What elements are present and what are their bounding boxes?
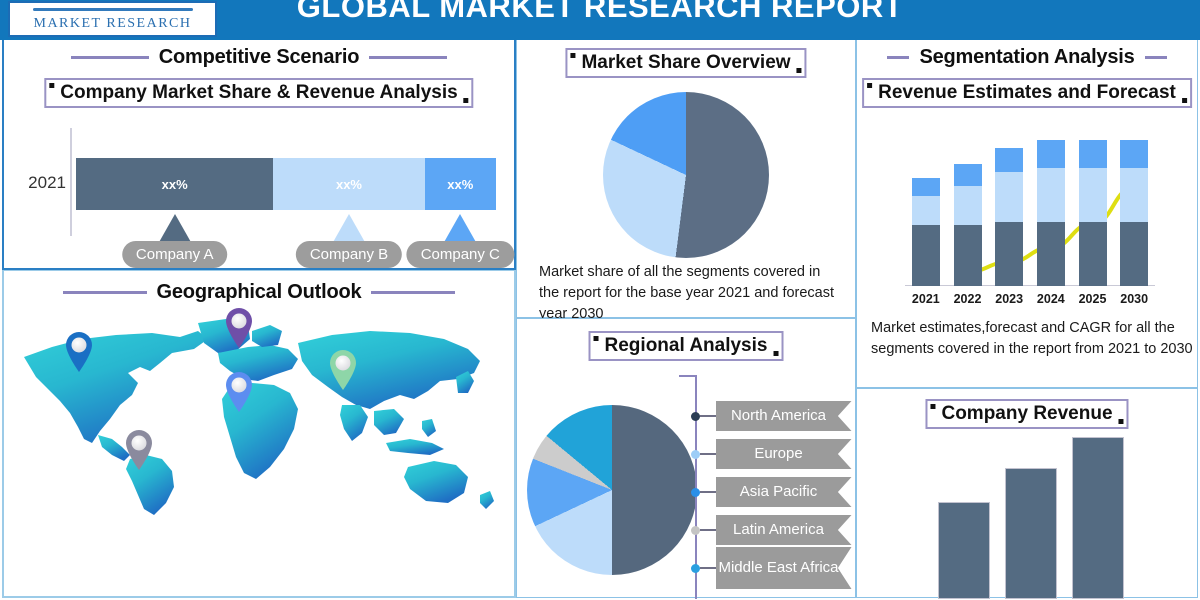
logo-text: MARKET RESEARCH <box>34 16 192 32</box>
market-share-overview-title-box: Market Share Overview <box>565 48 806 78</box>
bar-segment-company-c[interactable]: xx% <box>425 158 496 210</box>
company-revenue-bar-chart[interactable] <box>931 437 1131 599</box>
region-row-latin-america[interactable]: Latin America <box>695 515 852 545</box>
geographical-outlook-heading-label: Geographical Outlook <box>157 281 362 304</box>
region-leader-line <box>700 529 716 531</box>
seg-heading-rule-left <box>887 56 909 59</box>
region-label-europe: Europe <box>716 439 852 469</box>
region-row-europe[interactable]: Europe <box>695 439 852 469</box>
segmentation-subtitle-box: Revenue Estimates and Forecast <box>862 78 1192 108</box>
bar-segment-value-c: xx% <box>447 177 473 192</box>
region-dot-asia-pacific <box>691 488 700 497</box>
pointer-triangle-company-c <box>443 214 477 244</box>
segmentation-bar-2030[interactable] <box>1120 140 1148 286</box>
segment-Segment 1 <box>1120 222 1148 286</box>
region-leader-line <box>700 491 716 493</box>
segment-Segment 1 <box>1037 222 1065 286</box>
competitive-subtitle-box: Company Market Share & Revenue Analysis <box>44 78 473 108</box>
segmentation-bar-2025[interactable] <box>1079 140 1107 286</box>
region-dot-middle-east-africa <box>691 564 700 573</box>
bar-segment-company-a[interactable]: xx% <box>76 158 273 210</box>
segment-Segment 3 <box>1079 140 1107 168</box>
company-revenue-bar-company-a[interactable] <box>938 502 990 599</box>
market-share-stacked-bar: xx% xx% xx% <box>76 158 496 210</box>
company-label-c[interactable]: Company C <box>407 241 514 268</box>
company-label-b[interactable]: Company B <box>296 241 402 268</box>
brand-logo: MARKET RESEARCH <box>8 1 217 37</box>
logo-swoosh-icon <box>33 8 193 11</box>
bar-segment-value-b: xx% <box>336 177 362 192</box>
region-label-latin-america: Latin America <box>716 515 852 545</box>
segment-Segment 2 <box>954 186 982 225</box>
company-market-share-chart: 2021 xx% xx% xx% Company A Company B Com… <box>18 128 500 258</box>
seg-heading-rule-right <box>1145 56 1167 59</box>
region-dot-north-america <box>691 412 700 421</box>
region-row-asia-pacific[interactable]: Asia Pacific <box>695 477 852 507</box>
pointer-triangle-company-b <box>332 214 366 244</box>
segmentation-x-label-2024: 2024 <box>1037 292 1065 306</box>
company-revenue-title-box: Company Revenue <box>925 399 1128 429</box>
company-label-a[interactable]: Company A <box>122 241 228 268</box>
segment-Segment 2 <box>1120 168 1148 222</box>
segment-Segment 1 <box>1079 222 1107 286</box>
segmentation-x-label-2023: 2023 <box>995 292 1023 306</box>
infographic-root: GLOBAL MARKET RESEARCH REPORT MARKET RES… <box>0 0 1200 600</box>
region-label-asia-pacific: Asia Pacific <box>716 477 852 507</box>
company-revenue-title: Company Revenue <box>941 403 1112 424</box>
geographical-outlook-heading: Geographical Outlook <box>4 281 514 304</box>
segmentation-x-label-2021: 2021 <box>912 292 940 306</box>
segment-Segment 1 <box>912 225 940 286</box>
segmentation-note: Market estimates,forecast and CAGR for a… <box>871 318 1193 360</box>
region-leader-line <box>700 415 716 417</box>
segmentation-x-label-2025: 2025 <box>1079 292 1107 306</box>
market-share-overview-panel: Market Share Overview Market share of al… <box>516 40 856 318</box>
segmentation-bar-2023[interactable] <box>995 148 1023 285</box>
segmentation-analysis-heading: Segmentation Analysis <box>857 46 1197 69</box>
geo-heading-rule-right <box>371 291 455 294</box>
company-revenue-bar-company-c[interactable] <box>1072 437 1124 599</box>
segment-Segment 3 <box>995 148 1023 172</box>
market-share-overview-note: Market share of all the segments covered… <box>539 262 839 325</box>
heading-rule-left <box>71 56 149 59</box>
heading-rule-right <box>369 56 447 59</box>
pointer-triangle-company-a <box>158 214 192 244</box>
europe-pin[interactable] <box>224 307 254 349</box>
segment-Segment 3 <box>912 178 940 196</box>
middle-east-africa-pin[interactable] <box>224 371 254 413</box>
segmentation-x-label-2030: 2030 <box>1120 292 1148 306</box>
segment-Segment 2 <box>1037 168 1065 222</box>
segmentation-analysis-heading-label: Segmentation Analysis <box>919 46 1134 69</box>
geographical-outlook-panel: Geographical Outlook <box>2 270 516 598</box>
bar-segment-company-b[interactable]: xx% <box>273 158 424 210</box>
segment-Segment 1 <box>954 225 982 286</box>
region-leader-line <box>700 567 716 569</box>
segmentation-x-label-2022: 2022 <box>954 292 982 306</box>
revenue-estimates-bar-chart[interactable]: 202120222023202420252030 <box>905 118 1155 308</box>
regional-analysis-pie-chart[interactable] <box>527 405 697 575</box>
world-map <box>12 309 506 517</box>
seg-baseline <box>905 285 1155 287</box>
geo-heading-rule-left <box>63 291 147 294</box>
region-label-middle-east-africa: Middle East Africa <box>716 547 852 589</box>
north-america-pin[interactable] <box>64 331 94 373</box>
region-row-middle-east-africa[interactable]: Middle East Africa <box>695 553 852 583</box>
company-revenue-panel: Company Revenue <box>856 388 1198 598</box>
company-revenue-bar-company-b[interactable] <box>1005 468 1057 599</box>
regional-analysis-title: Regional Analysis <box>605 335 768 356</box>
segment-Segment 3 <box>1037 140 1065 168</box>
segment-Segment 1 <box>995 222 1023 286</box>
segment-Segment 2 <box>995 172 1023 222</box>
market-share-overview-title: Market Share Overview <box>581 52 790 73</box>
cagr-trend-line <box>905 118 1155 308</box>
segmentation-subtitle-label: Revenue Estimates and Forecast <box>878 82 1176 103</box>
competitive-subtitle-label: Company Market Share & Revenue Analysis <box>60 82 457 103</box>
competitive-scenario-heading-label: Competitive Scenario <box>159 46 360 69</box>
segmentation-bar-2021[interactable] <box>912 178 940 286</box>
competitive-scenario-panel: Competitive Scenario Company Market Shar… <box>2 40 516 270</box>
region-dot-latin-america <box>691 526 700 535</box>
chart-year-label: 2021 <box>18 173 66 193</box>
region-leader-line <box>700 453 716 455</box>
segment-Segment 2 <box>912 196 940 224</box>
chart-axis <box>70 128 72 236</box>
market-share-overview-pie-chart[interactable] <box>603 92 769 258</box>
region-row-north-america[interactable]: North America <box>695 401 852 431</box>
segment-Segment 3 <box>954 164 982 185</box>
segmentation-analysis-panel: Segmentation Analysis Revenue Estimates … <box>856 40 1198 388</box>
segment-Segment 3 <box>1120 140 1148 168</box>
region-dot-europe <box>691 450 700 459</box>
regional-analysis-title-box: Regional Analysis <box>589 331 784 361</box>
segmentation-bar-2022[interactable] <box>954 164 982 285</box>
bar-segment-value-a: xx% <box>162 177 188 192</box>
latin-america-pin[interactable] <box>124 429 154 471</box>
competitive-scenario-heading: Competitive Scenario <box>4 46 514 69</box>
asia-pacific-pin[interactable] <box>328 349 358 391</box>
segmentation-bar-2024[interactable] <box>1037 140 1065 286</box>
regional-analysis-panel: Regional Analysis North America Europe A… <box>516 318 856 598</box>
region-label-north-america: North America <box>716 401 852 431</box>
segment-Segment 2 <box>1079 168 1107 222</box>
